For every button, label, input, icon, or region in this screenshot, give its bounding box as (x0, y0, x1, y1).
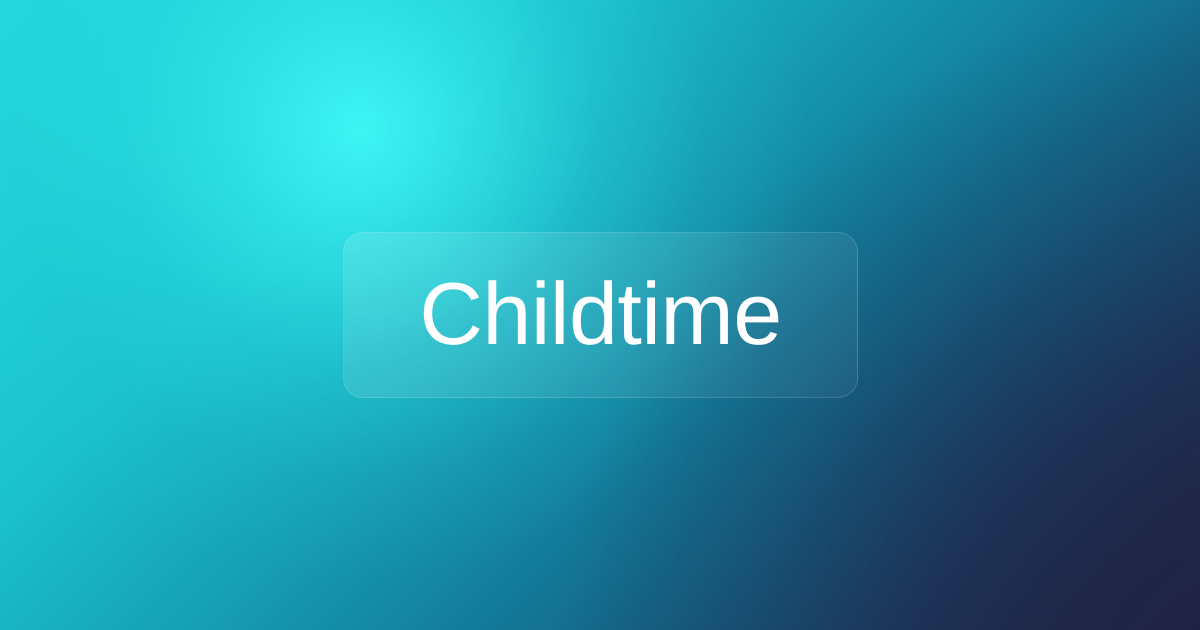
brand-wordmark: Childtime (419, 270, 781, 358)
logo-card: Childtime (343, 232, 858, 398)
banner-canvas: Childtime (0, 0, 1200, 630)
